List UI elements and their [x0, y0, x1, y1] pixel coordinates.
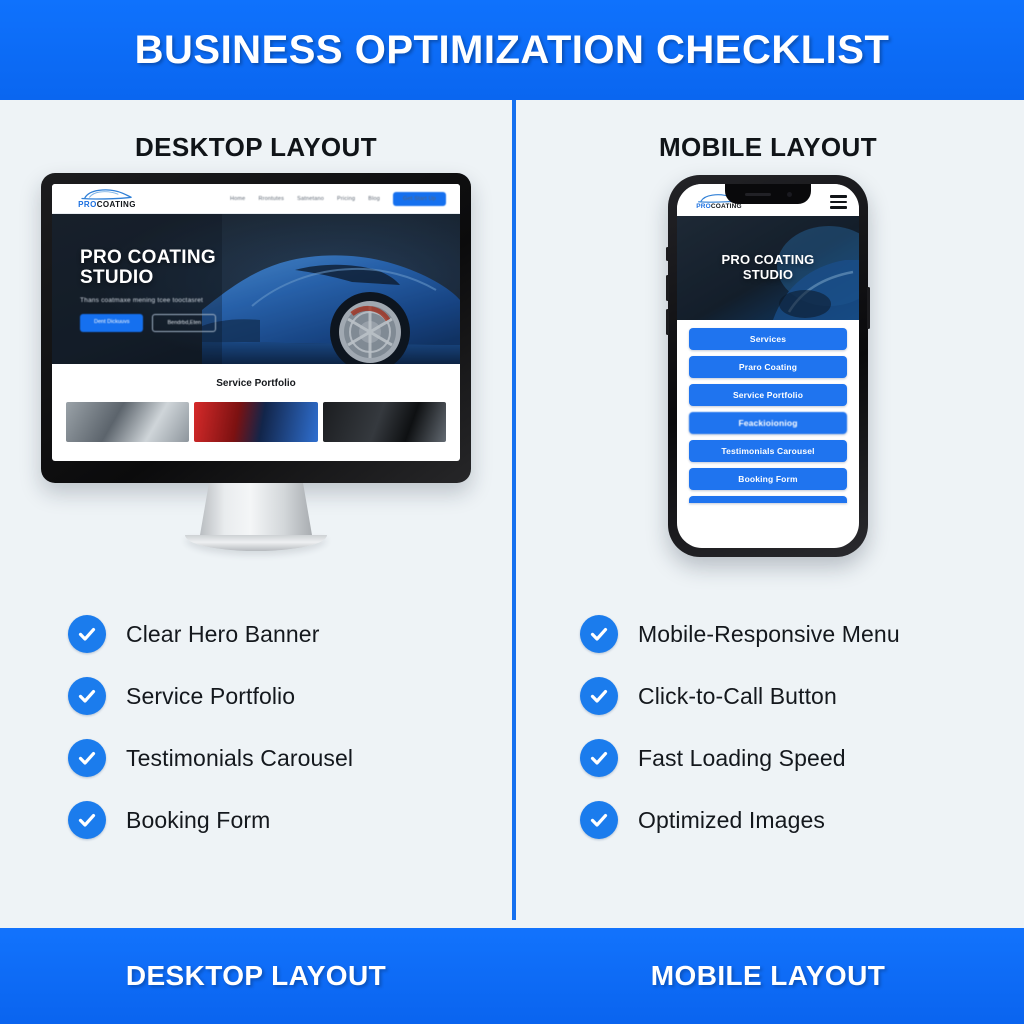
monitor-bezel: PROCOATING Home Rrontutes Satnetano Pric… [41, 173, 471, 483]
content-area: DESKTOP LAYOUT [0, 100, 1024, 928]
desktop-logo-text: PROCOATING [78, 201, 136, 209]
infographic-page: BUSINESS OPTIMIZATION CHECKLIST DESKTOP … [0, 0, 1024, 1024]
phone-volume-down-button[interactable] [666, 309, 669, 335]
phone-bezel: PROCOATING [668, 175, 868, 557]
checklist-label: Mobile-Responsive Menu [638, 621, 900, 648]
footer-right: MOBILE LAYOUT [512, 928, 1024, 1024]
list-item: Mobile-Responsive Menu [580, 615, 1024, 653]
check-circle-icon [68, 739, 106, 777]
hero-title-line1: PRO COATING [80, 248, 216, 268]
logo-coating-text: COATING [97, 200, 136, 209]
list-item: Testimonials Carousel [68, 739, 512, 777]
checklist-label: Testimonials Carousel [126, 745, 353, 772]
desktop-nav-links: Home Rrontutes Satnetano Pricing Blog Ge… [230, 192, 446, 206]
hero-subtitle: Thans coatmaxe mening tcee tooctasret [80, 297, 216, 304]
footer-left: DESKTOP LAYOUT [0, 928, 512, 1024]
phone-front-camera [787, 192, 792, 197]
desktop-hero-copy: PRO COATING STUDIO Thans coatmaxe mening… [80, 248, 216, 332]
phone-power-button[interactable] [867, 287, 870, 329]
logo-pro-text: PRO [696, 203, 711, 210]
list-item: Booking Form [68, 801, 512, 839]
monitor-mockup: PROCOATING Home Rrontutes Satnetano Pric… [41, 173, 471, 551]
checklist-label: Click-to-Call Button [638, 683, 837, 710]
portfolio-thumbnail[interactable] [66, 402, 189, 442]
portfolio-thumbnail[interactable] [194, 402, 317, 442]
nav-link-services[interactable]: Satnetano [297, 196, 324, 202]
check-circle-icon [68, 801, 106, 839]
phone-volume-up-button[interactable] [666, 275, 669, 301]
mobile-hero-title-line1: PRO COATING [722, 253, 815, 268]
portfolio-thumbnail-row [52, 389, 460, 442]
nav-link-features[interactable]: Rrontutes [258, 196, 284, 202]
mobile-button-feackioioniog[interactable]: Feackioioniog [689, 412, 847, 434]
desktop-hero-banner: PRO COATING STUDIO Thans coatmaxe mening… [52, 214, 460, 364]
nav-link-pricing[interactable]: Pricing [337, 196, 355, 202]
nav-link-home[interactable]: Home [230, 196, 245, 202]
mobile-button-services[interactable]: Services [689, 328, 847, 350]
monitor-stand-base [185, 535, 327, 551]
footer-desktop-label: DESKTOP LAYOUT [126, 960, 386, 992]
phone-screen: PROCOATING [677, 184, 859, 548]
check-circle-icon [68, 677, 106, 715]
mobile-button-booking-form[interactable]: Booking Form [689, 468, 847, 490]
phone-mockup: PROCOATING [668, 175, 868, 557]
check-circle-icon [580, 677, 618, 715]
list-item: Optimized Images [580, 801, 1024, 839]
check-circle-icon [68, 615, 106, 653]
hero-primary-button[interactable]: Dent Dickuuvs [80, 314, 143, 332]
desktop-checklist: Clear Hero Banner Service Portfolio Test… [0, 615, 512, 839]
mobile-device-stage: PROCOATING [512, 173, 1024, 593]
phone-earpiece-speaker [745, 193, 771, 196]
check-circle-icon [580, 801, 618, 839]
logo-coating-text: COATING [711, 203, 742, 210]
mobile-hero-title: PRO COATING STUDIO [722, 253, 815, 282]
footer-banner: DESKTOP LAYOUT MOBILE LAYOUT [0, 928, 1024, 1024]
logo-pro-text: PRO [78, 200, 97, 209]
phone-notch [725, 184, 811, 204]
mobile-button-praro-coating[interactable]: Praro Coating [689, 356, 847, 378]
mobile-button-list: Services Praro Coating Service Portfolio… [677, 320, 859, 503]
list-item: Click-to-Call Button [580, 677, 1024, 715]
mobile-button-service-portfolio[interactable]: Service Portfolio [689, 384, 847, 406]
nav-cta-button[interactable]: Get Start Up [393, 192, 446, 206]
checklist-label: Booking Form [126, 807, 270, 834]
portfolio-thumbnail[interactable] [323, 402, 446, 442]
desktop-column-title: DESKTOP LAYOUT [135, 132, 377, 163]
mobile-checklist: Mobile-Responsive Menu Click-to-Call But… [512, 615, 1024, 839]
mobile-hero-title-line2: STUDIO [722, 268, 815, 283]
checklist-label: Fast Loading Speed [638, 745, 846, 772]
list-item: Clear Hero Banner [68, 615, 512, 653]
mobile-hero-banner: PRO COATING STUDIO [677, 216, 859, 320]
desktop-device-stage: PROCOATING Home Rrontutes Satnetano Pric… [0, 173, 512, 593]
hero-button-group: Dent Dickuuvs Bendrbd,Eten [80, 314, 216, 332]
monitor-screen: PROCOATING Home Rrontutes Satnetano Pric… [52, 184, 460, 461]
portfolio-section-title: Service Portfolio [52, 378, 460, 389]
check-circle-icon [580, 739, 618, 777]
desktop-portfolio-section: Service Portfolio [52, 364, 460, 452]
mobile-button-testimonials-carousel[interactable]: Testimonials Carousel [689, 440, 847, 462]
checklist-label: Optimized Images [638, 807, 825, 834]
nav-link-blog[interactable]: Blog [368, 196, 380, 202]
mobile-button-partial[interactable] [689, 496, 847, 503]
desktop-site-logo[interactable]: PROCOATING [66, 188, 148, 209]
footer-mobile-label: MOBILE LAYOUT [651, 960, 885, 992]
hero-secondary-button[interactable]: Bendrbd,Eten [152, 314, 216, 332]
hamburger-menu-icon[interactable] [830, 195, 847, 208]
phone-mute-switch[interactable] [666, 247, 669, 261]
desktop-column: DESKTOP LAYOUT [0, 100, 512, 928]
list-item: Fast Loading Speed [580, 739, 1024, 777]
header-banner: BUSINESS OPTIMIZATION CHECKLIST [0, 0, 1024, 100]
list-item: Service Portfolio [68, 677, 512, 715]
checklist-label: Service Portfolio [126, 683, 295, 710]
check-circle-icon [580, 615, 618, 653]
hero-title-line2: STUDIO [80, 268, 216, 288]
mobile-logo-text: PROCOATING [696, 204, 742, 211]
monitor-stand-neck [200, 483, 312, 535]
mobile-column: MOBILE LAYOUT [512, 100, 1024, 928]
desktop-site-navbar: PROCOATING Home Rrontutes Satnetano Pric… [52, 184, 460, 214]
checklist-label: Clear Hero Banner [126, 621, 319, 648]
page-title: BUSINESS OPTIMIZATION CHECKLIST [135, 28, 890, 73]
mobile-column-title: MOBILE LAYOUT [659, 132, 877, 163]
